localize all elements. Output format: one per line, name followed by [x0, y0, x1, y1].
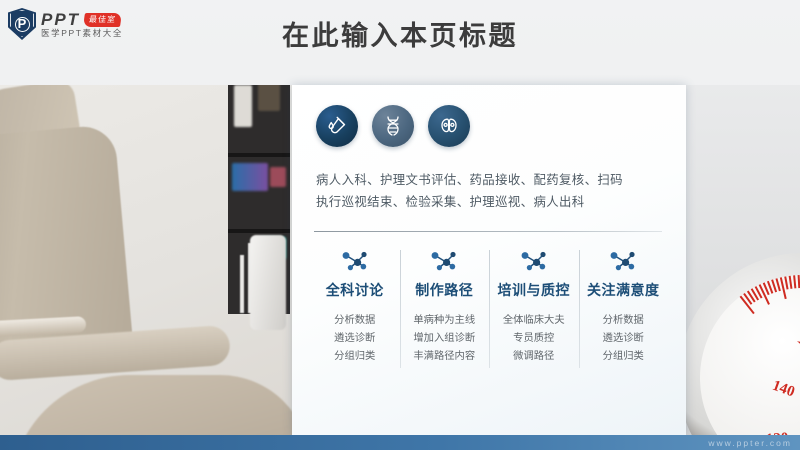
dna-helix-icon[interactable] [372, 105, 414, 147]
feature-line: 遴选诊断 [312, 330, 398, 348]
test-tube-drop-icon[interactable] [316, 105, 358, 147]
photo-equipment [250, 235, 286, 330]
feature-line: 遴选诊断 [581, 330, 667, 348]
feature-line: 分析数据 [312, 312, 398, 330]
slide-canvas: P PPT 最佳室 医学PPT素材大全 在此输入本页标题 [0, 0, 800, 450]
feature-line: 分组归类 [312, 348, 398, 366]
footer-bar [0, 435, 800, 450]
section-divider [314, 231, 662, 232]
network-nodes-icon [491, 248, 577, 276]
feature-line: 丰满路径内容 [402, 348, 488, 366]
blood-pressure-gauge-photo: 180 160 140 120 [686, 85, 800, 435]
medical-icon-row [316, 105, 668, 147]
gauge-tick [784, 276, 788, 289]
kidneys-icon[interactable] [428, 105, 470, 147]
paragraph-line-1: 病人入科、护理文书评估、药品接收、配药复核、扫码 [316, 169, 662, 191]
feature-line: 全体临床大夫 [491, 312, 577, 330]
feature-column-3[interactable]: 培训与质控 全体临床大夫 专员质控 微调路径 [489, 248, 579, 366]
feature-column-4[interactable]: 关注满意度 分析数据 遴选诊断 分组归类 [579, 248, 669, 366]
feature-column-1[interactable]: 全科讨论 分析数据 遴选诊断 分组归类 [310, 248, 400, 366]
feature-line: 微调路径 [491, 348, 577, 366]
content-panel: 病人入科、护理文书评估、药品接收、配药复核、扫码 执行巡视结束、检验采集、护理巡… [292, 85, 686, 435]
gauge-number-160: 160 [793, 332, 800, 360]
gauge-tick [789, 276, 792, 289]
network-nodes-icon [402, 248, 488, 276]
feature-columns: 全科讨论 分析数据 遴选诊断 分组归类 [310, 248, 668, 366]
feature-line: 分析数据 [581, 312, 667, 330]
feature-line: 增加入组诊断 [402, 330, 488, 348]
feature-line: 单病种为主线 [402, 312, 488, 330]
page-title: 在此输入本页标题 [0, 14, 800, 53]
site-watermark: www.ppter.com [708, 435, 792, 450]
feature-line: 专员质控 [491, 330, 577, 348]
paragraph-line-2: 执行巡视结束、检验采集、护理巡视、病人出科 [316, 191, 662, 213]
description-paragraph: 病人入科、护理文书评估、药品接收、配药复核、扫码 执行巡视结束、检验采集、护理巡… [316, 169, 662, 213]
network-nodes-icon [312, 248, 398, 276]
gauge-tick [793, 275, 796, 288]
feature-title: 制作路径 [402, 280, 488, 300]
feature-title: 关注满意度 [581, 280, 667, 300]
feature-title: 培训与质控 [491, 280, 577, 300]
feature-column-2[interactable]: 制作路径 单病种为主线 增加入组诊断 丰满路径内容 [400, 248, 490, 366]
gauge-number-140: 140 [770, 378, 797, 402]
feature-title: 全科讨论 [312, 280, 398, 300]
dental-chair-photo [0, 85, 292, 435]
network-nodes-icon [581, 248, 667, 276]
feature-line: 分组归类 [581, 348, 667, 366]
